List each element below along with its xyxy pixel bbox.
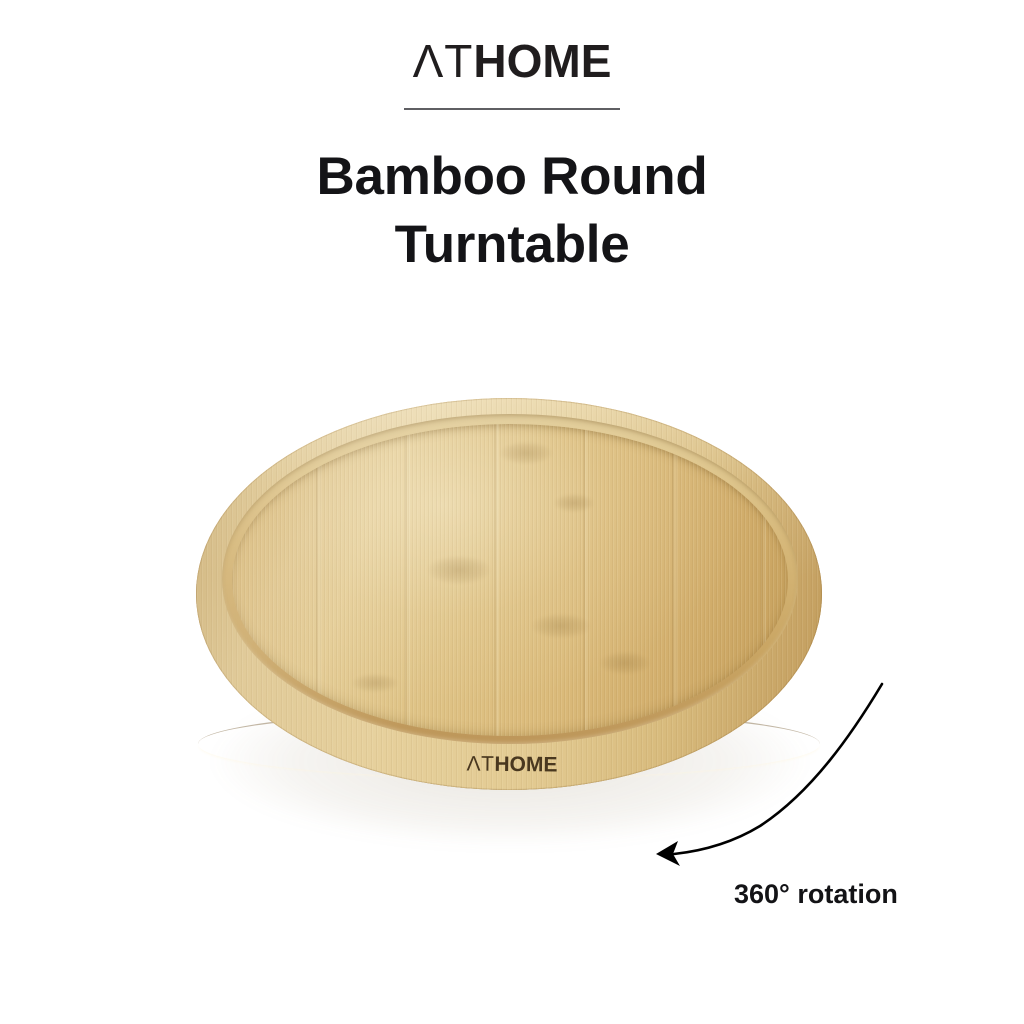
brand-logo: ΛTHOME: [0, 38, 1024, 84]
rotation-annotation: 360° rotation: [630, 660, 960, 930]
rotation-label: 360° rotation: [734, 879, 960, 910]
page-title-line-1: Bamboo Round: [0, 143, 1024, 211]
brand-divider: [404, 108, 620, 110]
brand-logo-bold-part: HOME: [473, 35, 611, 87]
product-brand-light-part: ΛT: [466, 753, 494, 776]
bamboo-node-mark: [500, 442, 552, 464]
bamboo-node-mark: [428, 556, 490, 584]
bamboo-node-mark: [532, 614, 590, 638]
brand-logo-light-part: ΛT: [413, 35, 474, 87]
product-brand-bold-part: HOME: [494, 753, 557, 777]
page-title: Bamboo Round Turntable: [0, 143, 1024, 279]
brand-header: ΛTHOME: [0, 38, 1024, 110]
page-title-line-2: Turntable: [0, 211, 1024, 279]
bamboo-node-mark: [352, 674, 398, 692]
bamboo-node-mark: [554, 494, 594, 512]
product-brand-mark: ΛTHOME: [446, 753, 578, 775]
